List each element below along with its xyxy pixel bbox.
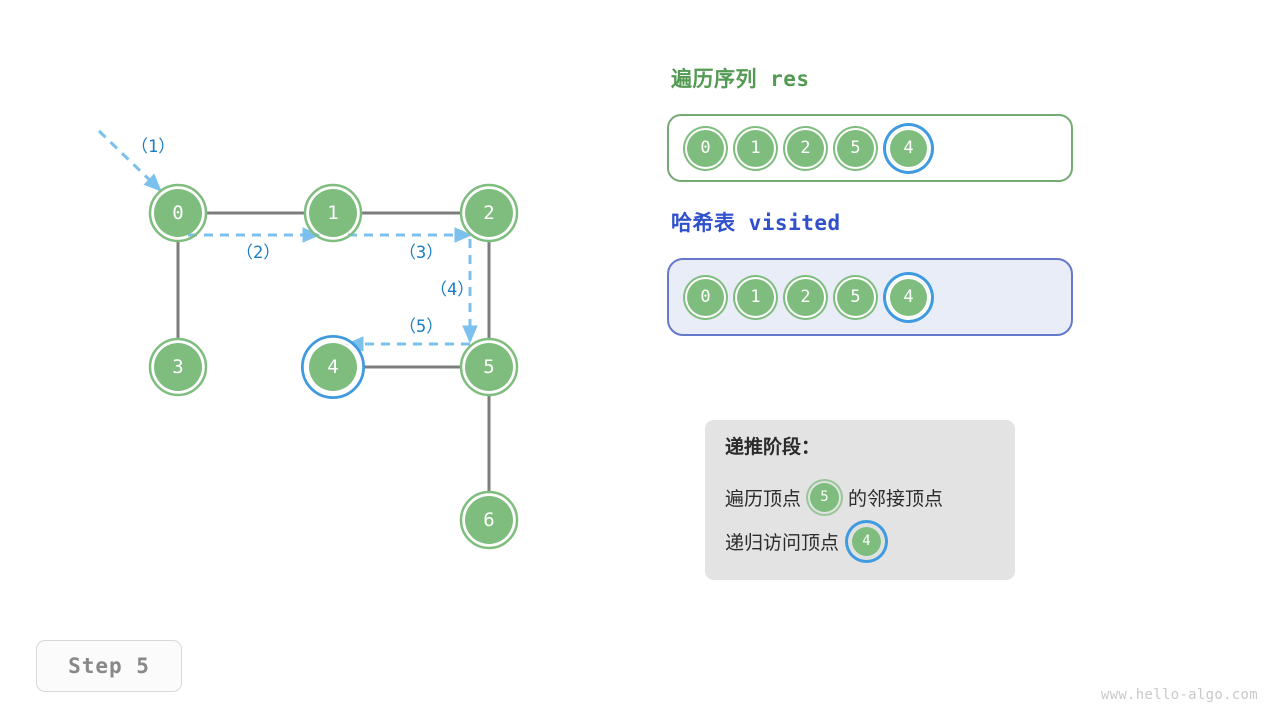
screenshot-root: 0 1 2 3: [0, 0, 1280, 720]
graph-vertex-4[interactable]: 4: [303, 337, 364, 398]
visited-item-4-highlighted[interactable]: 4: [888, 277, 929, 318]
graph-vertex-2[interactable]: 2: [461, 185, 517, 241]
traversal-step-label-3: （3）: [399, 243, 443, 263]
res-container: 0 1 2 5 4: [667, 114, 1073, 182]
line1-vertex-chip[interactable]: 5: [808, 481, 841, 514]
visited-container: 0 1 2 5 4: [667, 258, 1073, 336]
visited-item-0[interactable]: 0: [685, 277, 726, 318]
recursion-phase-card: 递推阶段： 遍历顶点 5 的邻接顶点 递归访问顶点 4: [705, 420, 1015, 580]
traversal-step-label-4: （4）: [430, 280, 474, 300]
graph-vertex-6[interactable]: 6: [461, 492, 517, 548]
graph-vertex-5-label: 5: [483, 356, 494, 378]
graph-vertex-0[interactable]: 0: [150, 185, 206, 241]
res-item-1[interactable]: 1: [735, 128, 776, 169]
visited-item-1[interactable]: 1: [735, 277, 776, 318]
visited-title: 哈希表 visited: [671, 207, 841, 237]
res-item-0[interactable]: 0: [685, 128, 726, 169]
visited-item-2[interactable]: 2: [785, 277, 826, 318]
res-item-3[interactable]: 5: [835, 128, 876, 169]
recursion-phase-label: 递推阶段：: [725, 438, 1015, 457]
traversal-step-label-layer: （1） （2） （3） （4） （5）: [131, 137, 474, 337]
graph-vertex-layer: 0 1 2 3: [150, 185, 517, 548]
line2-text-before: 递归访问顶点: [725, 528, 839, 555]
line2-vertex-chip-highlighted[interactable]: 4: [850, 525, 883, 558]
res-title: 遍历序列 res: [671, 63, 810, 93]
line1-text-after: 的邻接顶点: [848, 484, 943, 511]
traversal-step-label-1: （1）: [131, 137, 175, 157]
traversal-arrow-layer: [99, 131, 470, 344]
graph-vertex-4-label: 4: [327, 356, 338, 378]
graph-vertex-5[interactable]: 5: [461, 339, 517, 395]
graph-vertex-3[interactable]: 3: [150, 339, 206, 395]
graph-vertex-0-label: 0: [172, 202, 183, 224]
graph-vertex-1[interactable]: 1: [305, 185, 361, 241]
recursion-phase-line-1: 遍历顶点 5 的邻接顶点: [725, 475, 1015, 519]
res-item-2[interactable]: 2: [785, 128, 826, 169]
graph-vertex-1-label: 1: [327, 202, 338, 224]
graph-svg: 0 1 2 3: [0, 0, 640, 620]
graph-vertex-6-label: 6: [483, 509, 494, 531]
graph-panel: 0 1 2 3: [0, 0, 640, 620]
visited-item-3[interactable]: 5: [835, 277, 876, 318]
traversal-step-label-2: （2）: [236, 243, 280, 263]
res-item-4-highlighted[interactable]: 4: [888, 128, 929, 169]
watermark: www.hello-algo.com: [1101, 687, 1258, 703]
traversal-step-label-5: （5）: [399, 317, 443, 337]
line1-text-before: 遍历顶点: [725, 484, 801, 511]
graph-vertex-2-label: 2: [483, 202, 494, 224]
recursion-phase-line-2: 递归访问顶点 4: [725, 519, 1015, 563]
graph-vertex-3-label: 3: [172, 356, 183, 378]
step-badge: Step 5: [36, 640, 182, 692]
